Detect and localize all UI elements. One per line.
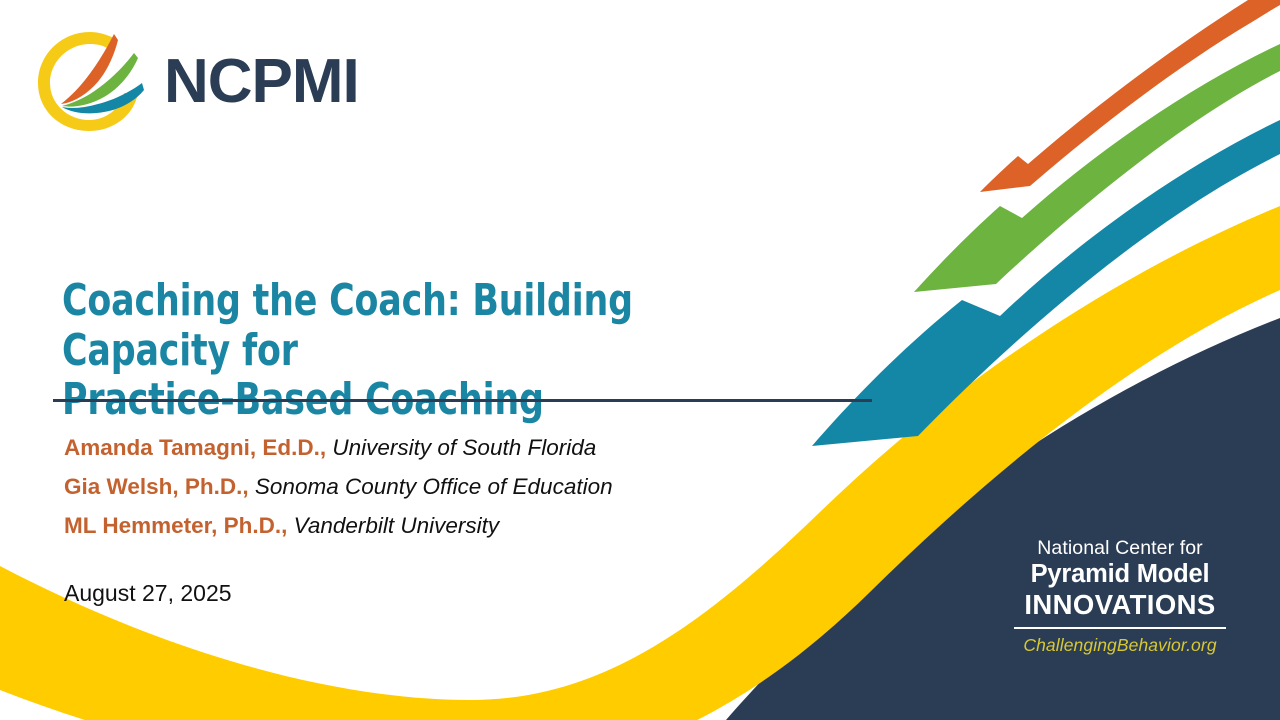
green-ribbon-shape bbox=[914, 44, 1280, 292]
pmi-website-url: ChallengingBehavior.org bbox=[1008, 635, 1232, 656]
pmi-name-secondary: INNOVATIONS bbox=[1008, 589, 1232, 620]
author-name: Gia Welsh, Ph.D., bbox=[64, 474, 249, 499]
teal-ribbon-shape bbox=[812, 120, 1280, 446]
pmi-tagline: National Center for bbox=[1008, 536, 1232, 560]
ncpmi-swoosh-circle-logo-icon bbox=[28, 26, 150, 136]
author-list: Amanda Tamagni, Ed.D., University of Sou… bbox=[64, 432, 844, 549]
pmi-divider-rule bbox=[1014, 627, 1226, 629]
orange-ribbon-shape bbox=[980, 0, 1280, 192]
page-title: Coaching the Coach: Building Capacity fo… bbox=[62, 276, 731, 424]
title-divider-rule bbox=[53, 399, 872, 402]
author-name: ML Hemmeter, Ph.D., bbox=[64, 513, 287, 538]
author-row: Amanda Tamagni, Ed.D., University of Sou… bbox=[64, 432, 844, 464]
pmi-name-primary: Pyramid Model bbox=[1008, 560, 1232, 589]
author-affiliation: Sonoma County Office of Education bbox=[255, 474, 613, 499]
title-slide: NCPMI Coaching the Coach: Building Capac… bbox=[0, 0, 1280, 720]
pyramid-model-innovations-logo: National Center for Pyramid Model INNOVA… bbox=[1008, 536, 1232, 656]
author-affiliation: Vanderbilt University bbox=[294, 513, 500, 538]
presentation-date: August 27, 2025 bbox=[64, 580, 232, 607]
title-line-1: Coaching the Coach: Building Capacity fo… bbox=[62, 275, 633, 375]
author-row: ML Hemmeter, Ph.D., Vanderbilt Universit… bbox=[64, 510, 844, 542]
ncpmi-logo: NCPMI bbox=[28, 26, 359, 136]
author-affiliation: University of South Florida bbox=[332, 435, 596, 460]
author-row: Gia Welsh, Ph.D., Sonoma County Office o… bbox=[64, 471, 844, 503]
author-name: Amanda Tamagni, Ed.D., bbox=[64, 435, 326, 460]
ncpmi-wordmark: NCPMI bbox=[164, 51, 359, 113]
